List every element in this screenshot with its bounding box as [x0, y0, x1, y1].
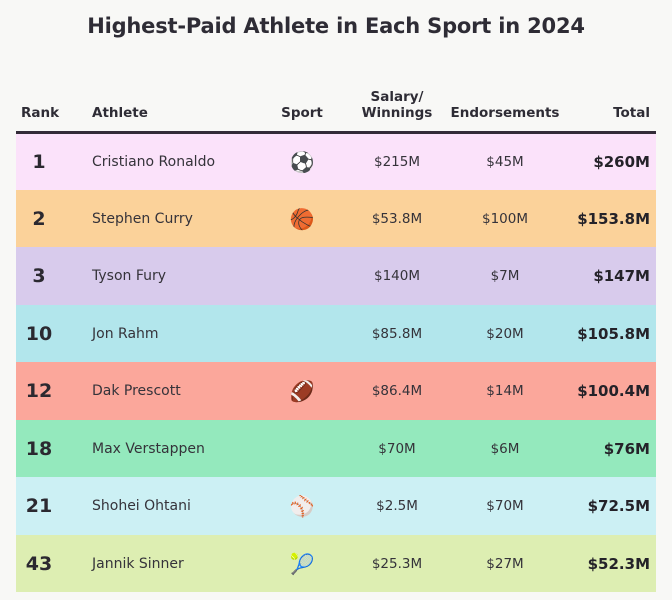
soccer-ball-icon: ⚽ [290, 152, 315, 172]
cell-endorsements: $20M [448, 305, 562, 363]
table-row: 12Dak Prescott🏈$86.4M$14M$100.4M [16, 362, 656, 420]
cell-endorsements: $7M [448, 247, 562, 305]
cell-athlete-name: Shohei Ohtani [80, 477, 258, 535]
cell-sport [258, 247, 346, 305]
column-header-endorsements: Endorsements [448, 90, 562, 132]
cell-sport: 🏈 [258, 362, 346, 420]
cell-endorsements: $45M [448, 132, 562, 190]
cell-endorsements: $100M [448, 190, 562, 248]
cell-sport: 🎾 [258, 535, 346, 593]
cell-total: $100.4M [562, 362, 656, 420]
table-header: Rank Athlete Sport Salary/Winnings Endor… [16, 90, 656, 132]
table-row: 3Tyson Fury$140M$7M$147M [16, 247, 656, 305]
cell-rank: 21 [16, 477, 80, 535]
tennis-racket-icon: 🎾 [290, 554, 315, 574]
cell-rank: 1 [16, 132, 80, 190]
cell-athlete-name: Dak Prescott [80, 362, 258, 420]
cell-salary-winnings: $53.8M [346, 190, 448, 248]
cell-sport: ⚽ [258, 132, 346, 190]
table-row: 10Jon Rahm$85.8M$20M$105.8M [16, 305, 656, 363]
page-title: Highest-Paid Athlete in Each Sport in 20… [0, 14, 672, 38]
table-row: 2Stephen Curry🏀$53.8M$100M$153.8M [16, 190, 656, 248]
cell-salary-winnings: $85.8M [346, 305, 448, 363]
table-header-row: Rank Athlete Sport Salary/Winnings Endor… [16, 90, 656, 132]
cell-athlete-name: Tyson Fury [80, 247, 258, 305]
table-row: 1Cristiano Ronaldo⚽$215M$45M$260M [16, 132, 656, 190]
baseball-icon: ⚾ [290, 496, 315, 516]
cell-salary-winnings: $2.5M [346, 477, 448, 535]
cell-total: $105.8M [562, 305, 656, 363]
cell-endorsements: $70M [448, 477, 562, 535]
column-header-salary-winnings: Salary/Winnings [346, 90, 448, 132]
athlete-earnings-table: Rank Athlete Sport Salary/Winnings Endor… [16, 90, 656, 592]
column-header-salary-line2: Winnings [362, 105, 433, 121]
cell-rank: 3 [16, 247, 80, 305]
cell-salary-winnings: $25.3M [346, 535, 448, 593]
cell-athlete-name: Max Verstappen [80, 420, 258, 478]
column-header-total: Total [562, 90, 656, 132]
cell-salary-winnings: $215M [346, 132, 448, 190]
table-body: 1Cristiano Ronaldo⚽$215M$45M$260M2Stephe… [16, 132, 656, 592]
cell-salary-winnings: $140M [346, 247, 448, 305]
column-header-athlete: Athlete [80, 90, 258, 132]
cell-sport [258, 420, 346, 478]
cell-total: $76M [562, 420, 656, 478]
cell-total: $147M [562, 247, 656, 305]
cell-total: $52.3M [562, 535, 656, 593]
cell-rank: 2 [16, 190, 80, 248]
column-header-sport: Sport [258, 90, 346, 132]
cell-athlete-name: Jannik Sinner [80, 535, 258, 593]
table-row: 43Jannik Sinner🎾$25.3M$27M$52.3M [16, 535, 656, 593]
table-row: 21Shohei Ohtani⚾$2.5M$70M$72.5M [16, 477, 656, 535]
page-root: Highest-Paid Athlete in Each Sport in 20… [0, 0, 672, 600]
cell-total: $153.8M [562, 190, 656, 248]
column-header-salary-line1: Salary/ [371, 89, 424, 105]
cell-endorsements: $27M [448, 535, 562, 593]
table-row: 18Max Verstappen$70M$6M$76M [16, 420, 656, 478]
cell-athlete-name: Stephen Curry [80, 190, 258, 248]
cell-total: $260M [562, 132, 656, 190]
column-header-rank: Rank [16, 90, 80, 132]
cell-sport: 🏀 [258, 190, 346, 248]
basketball-hoop-icon: 🏀 [290, 209, 315, 229]
cell-rank: 10 [16, 305, 80, 363]
cell-rank: 43 [16, 535, 80, 593]
cell-sport [258, 305, 346, 363]
cell-salary-winnings: $70M [346, 420, 448, 478]
cell-salary-winnings: $86.4M [346, 362, 448, 420]
cell-rank: 18 [16, 420, 80, 478]
cell-athlete-name: Jon Rahm [80, 305, 258, 363]
american-football-icon: 🏈 [290, 381, 315, 401]
cell-endorsements: $6M [448, 420, 562, 478]
cell-rank: 12 [16, 362, 80, 420]
cell-endorsements: $14M [448, 362, 562, 420]
cell-sport: ⚾ [258, 477, 346, 535]
cell-athlete-name: Cristiano Ronaldo [80, 132, 258, 190]
cell-total: $72.5M [562, 477, 656, 535]
